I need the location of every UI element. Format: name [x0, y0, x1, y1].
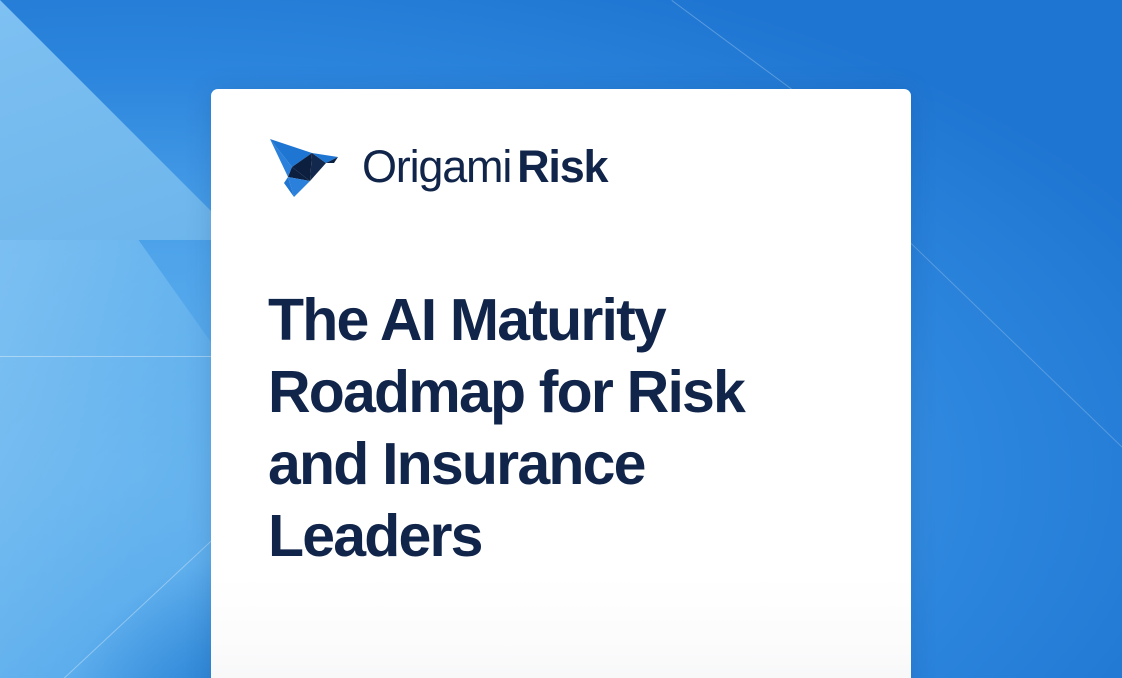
content-card: OrigamiRisk The AI Maturity Roadmap for … — [211, 89, 911, 678]
brand-wordmark: OrigamiRisk — [362, 144, 607, 189]
background-line-horizontal — [0, 356, 214, 357]
brand-name-origami: Origami — [362, 141, 511, 192]
page-root: OrigamiRisk The AI Maturity Roadmap for … — [0, 0, 1122, 678]
brand-name-risk: Risk — [517, 141, 607, 192]
brand-logo: OrigamiRisk — [268, 133, 607, 199]
page-title: The AI Maturity Roadmap for Risk and Ins… — [268, 284, 828, 572]
origami-bird-logo-icon — [268, 133, 346, 199]
